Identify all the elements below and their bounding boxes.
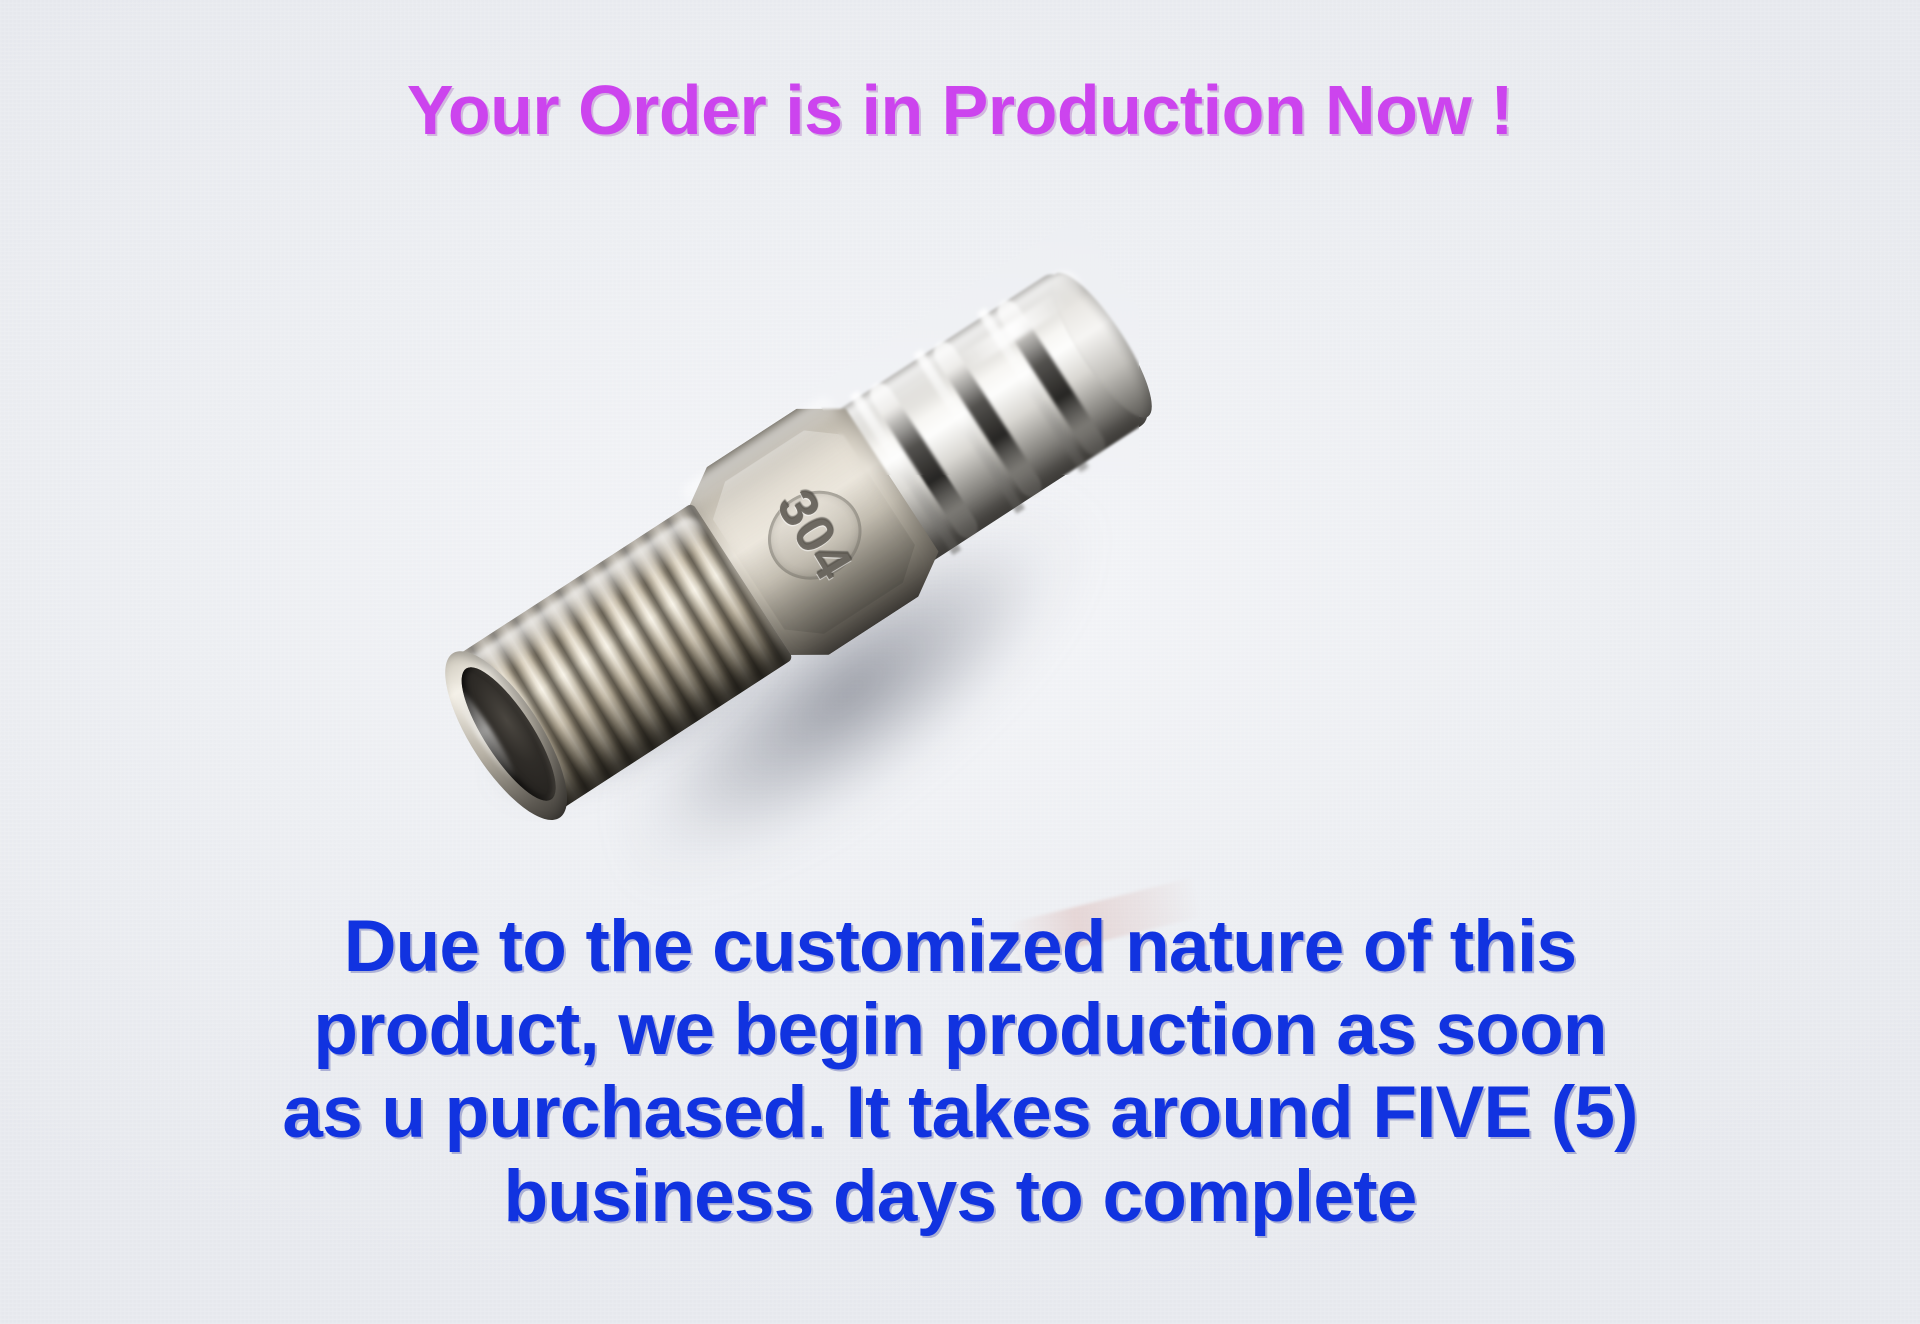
notice-line: product, we begin production as soon — [0, 988, 1920, 1071]
notice-line: Due to the customized nature of this — [0, 905, 1920, 988]
notice-line: business days to complete — [0, 1155, 1920, 1238]
page-title: Your Order is in Production Now ! — [0, 74, 1920, 148]
promo-poster: Your Order is in Production Now ! 304 — [0, 0, 1920, 1324]
notice-line: as u purchased. It takes around FIVE (5) — [0, 1071, 1920, 1154]
production-notice-text: Due to the customized nature of this pro… — [0, 905, 1920, 1238]
